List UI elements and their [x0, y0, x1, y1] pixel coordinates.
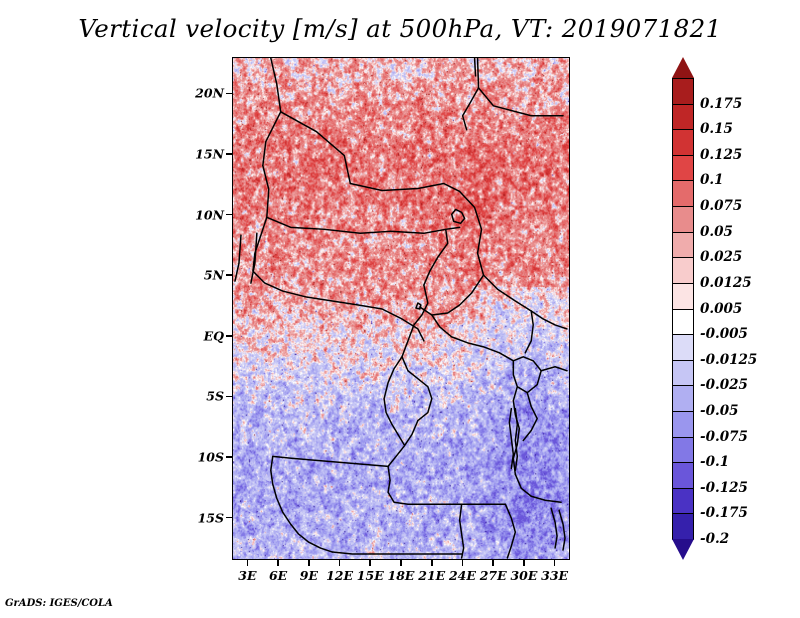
y-axis-tick-mark — [226, 93, 232, 95]
x-axis-tick-label: 30E — [510, 568, 537, 583]
x-axis-tick-mark — [308, 560, 310, 566]
x-axis-tick-label: 24E — [449, 568, 476, 583]
footer-credit: GrADS: IGES/COLA — [5, 598, 113, 609]
colorbar-tick-label: -0.0125 — [700, 352, 757, 368]
y-axis-tick-mark — [226, 396, 232, 398]
colorbar-tick-label: 0.075 — [700, 198, 742, 214]
colorbar-swatch — [672, 334, 694, 361]
colorbar: 0.1750.150.1250.10.0750.050.0250.01250.0… — [672, 57, 694, 560]
colorbar-tick-label: 0.0125 — [700, 275, 752, 291]
x-axis-tick-mark — [339, 560, 341, 566]
y-axis-tick-mark — [226, 214, 232, 216]
colorbar-tick-label: 0.15 — [700, 121, 733, 137]
colorbar-swatch — [672, 385, 694, 412]
colorbar-tick-label: -0.05 — [700, 403, 738, 419]
colorbar-tick-label: -0.175 — [700, 505, 748, 521]
x-axis-tick-label: 12E — [326, 568, 353, 583]
x-axis-tick-label: 33E — [541, 568, 568, 583]
x-axis-tick-label: 18E — [388, 568, 415, 583]
colorbar-tick-label: 0.05 — [700, 224, 733, 240]
colorbar-swatch — [672, 360, 694, 387]
y-axis-tick-label: 10N — [180, 207, 224, 222]
y-axis-tick-label: 5S — [180, 389, 224, 404]
y-axis-tick-label: 15N — [180, 146, 224, 161]
y-axis-tick-mark — [226, 274, 232, 276]
colorbar-tick-label: -0.005 — [700, 326, 748, 342]
colorbar-swatch — [672, 78, 694, 105]
colorbar-swatch — [672, 180, 694, 207]
country-borders-overlay — [233, 58, 569, 559]
x-axis-tick-mark — [277, 560, 279, 566]
colorbar-tick-label: -0.025 — [700, 377, 748, 393]
colorbar-tick-label: -0.2 — [700, 531, 729, 547]
colorbar-tick-label: -0.1 — [700, 454, 729, 470]
x-axis-tick-mark — [400, 560, 402, 566]
x-axis-tick-mark — [369, 560, 371, 566]
colorbar-swatch — [672, 411, 694, 438]
colorbar-swatch — [672, 462, 694, 489]
x-axis-tick-mark — [431, 560, 433, 566]
colorbar-swatch — [672, 309, 694, 336]
x-axis-tick-label: 6E — [269, 568, 287, 583]
colorbar-swatch — [672, 488, 694, 515]
x-axis-tick-mark — [492, 560, 494, 566]
y-axis-tick-label: 10S — [180, 449, 224, 464]
y-axis-tick-mark — [226, 517, 232, 519]
y-axis-tick-label: 15S — [180, 510, 224, 525]
x-axis-tick-label: 21E — [418, 568, 445, 583]
colorbar-swatch — [672, 129, 694, 156]
x-axis-tick-mark — [247, 560, 249, 566]
colorbar-swatch — [672, 155, 694, 182]
colorbar-swatch — [672, 437, 694, 464]
colorbar-tick-label: 0.1 — [700, 172, 724, 188]
colorbar-tick-label: -0.125 — [700, 480, 748, 496]
colorbar-swatch — [672, 283, 694, 310]
colorbar-tick-label: 0.025 — [700, 249, 742, 265]
colorbar-swatch — [672, 232, 694, 259]
x-axis-tick-mark — [462, 560, 464, 566]
x-axis-tick-mark — [523, 560, 525, 566]
x-axis-tick-mark — [554, 560, 556, 566]
y-axis-tick-label: 5N — [180, 268, 224, 283]
colorbar-swatch — [672, 104, 694, 131]
colorbar-tick-label: -0.075 — [700, 429, 748, 445]
x-axis-tick-label: 3E — [238, 568, 256, 583]
colorbar-swatch — [672, 257, 694, 284]
y-axis-tick-mark — [226, 153, 232, 155]
x-axis-tick-label: 27E — [480, 568, 507, 583]
colorbar-max-arrow — [672, 57, 694, 78]
y-axis-tick-label: EQ — [180, 328, 224, 343]
colorbar-tick-label: 0.005 — [700, 301, 742, 317]
y-axis-tick-mark — [226, 456, 232, 458]
y-axis-tick-mark — [226, 335, 232, 337]
page-title: Vertical velocity [m/s] at 500hPa, VT: 2… — [0, 14, 800, 43]
colorbar-min-arrow — [672, 539, 694, 560]
x-axis-tick-label: 15E — [357, 568, 384, 583]
colorbar-swatch — [672, 513, 694, 540]
x-axis-tick-label: 9E — [300, 568, 318, 583]
colorbar-tick-label: 0.125 — [700, 147, 742, 163]
map-plot-area — [232, 57, 570, 560]
y-axis-tick-label: 20N — [180, 86, 224, 101]
colorbar-swatch — [672, 206, 694, 233]
colorbar-tick-label: 0.175 — [700, 96, 742, 112]
